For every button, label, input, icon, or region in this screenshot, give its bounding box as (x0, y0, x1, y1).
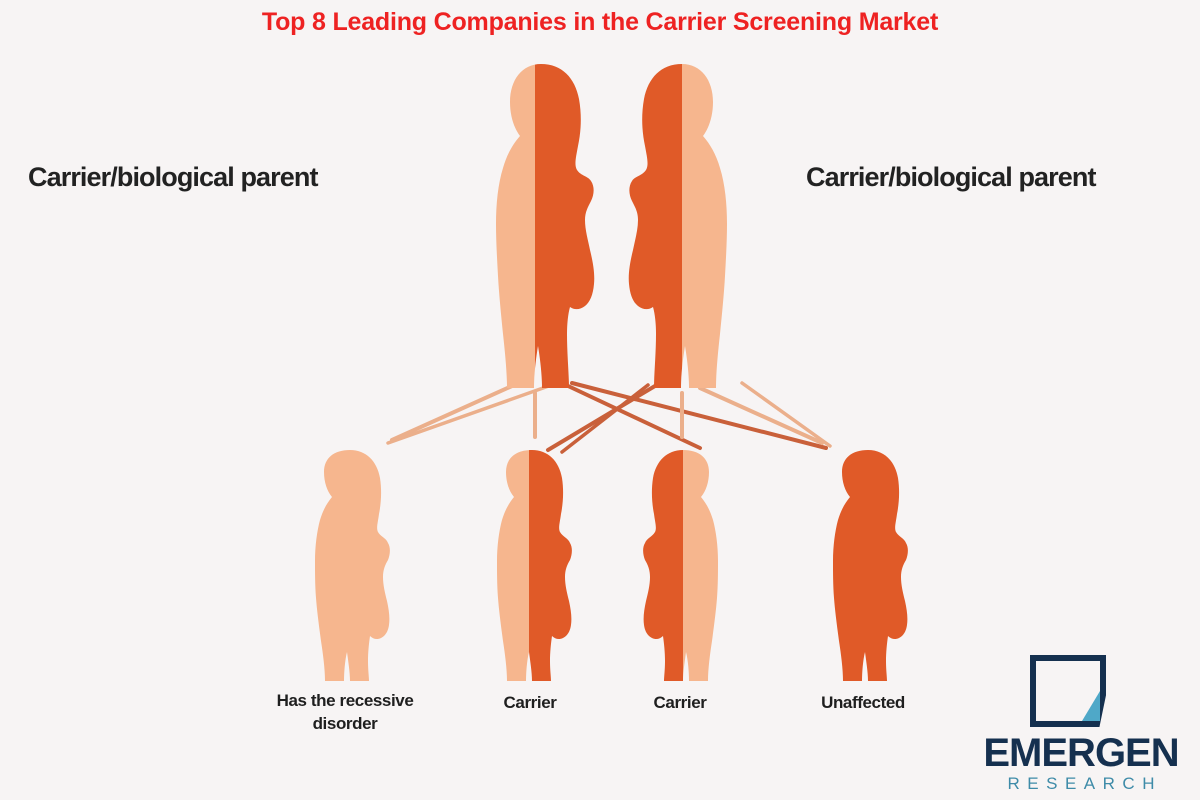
parent-left-label: Carrier/biological parent (28, 162, 318, 193)
parent-left-figure (478, 62, 610, 392)
parent-right-figure (612, 62, 745, 392)
parent-right-label: Carrier/biological parent (806, 162, 1096, 193)
inheritance-lines (388, 382, 830, 452)
line-pl-light-to-child1 (392, 386, 512, 440)
line-pl-dark-to-child3 (566, 385, 700, 448)
child-4-label: Unaffected (783, 692, 943, 715)
child-1-figure (300, 448, 402, 683)
child-1-label: Has the recessive disorder (240, 690, 450, 736)
child-3-label: Carrier (600, 692, 760, 715)
child-2-figure (482, 448, 584, 683)
child-3-figure (631, 448, 733, 683)
child-4-figure (818, 448, 920, 683)
child-1-label-line-2: disorder (240, 713, 450, 736)
child-1-label-line-1: Has the recessive (240, 690, 450, 713)
child-2-label: Carrier (450, 692, 610, 715)
logo-square-icon (1030, 655, 1106, 727)
infographic-canvas: Top 8 Leading Companies in the Carrier S… (0, 0, 1200, 800)
logo-subtitle: RESEARCH (962, 775, 1200, 792)
logo-wordmark: EMERGEN (962, 733, 1200, 773)
emergen-research-logo: EMERGEN RESEARCH (962, 655, 1200, 795)
